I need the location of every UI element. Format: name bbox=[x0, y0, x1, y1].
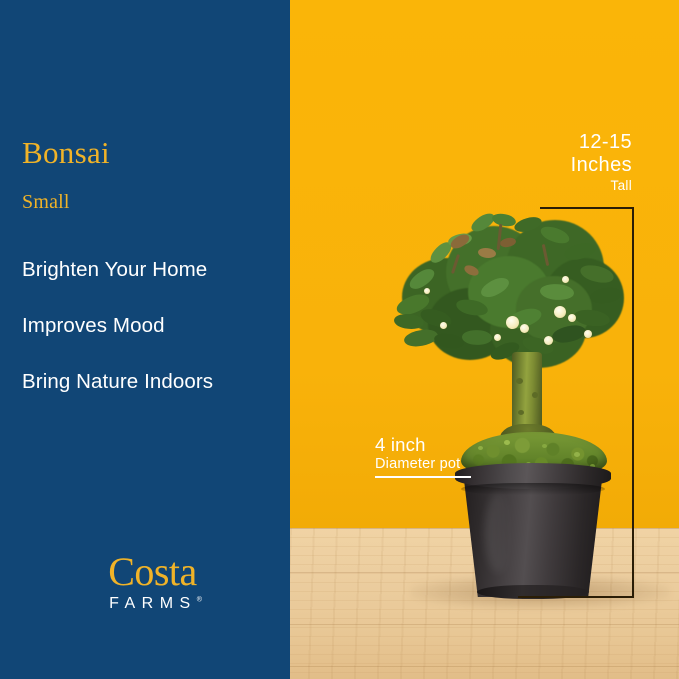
bonsai-flower bbox=[506, 316, 519, 329]
pot-callout-underline bbox=[375, 476, 471, 478]
bonsai-canopy bbox=[394, 214, 626, 376]
registered-trademark-icon: ® bbox=[197, 597, 202, 604]
height-callout-qualifier: Tall bbox=[526, 177, 632, 195]
height-bracket-line bbox=[632, 207, 634, 598]
bonsai-flower bbox=[424, 288, 430, 294]
product-image-canvas: Bonsai Small Brighten Your Home Improves… bbox=[0, 0, 679, 679]
brand-logo-farms-text: FARMS bbox=[109, 595, 197, 612]
benefit-item: Bring Nature Indoors bbox=[22, 370, 272, 394]
benefit-item: Improves Mood bbox=[22, 314, 272, 338]
height-callout-value: 12-15 bbox=[526, 131, 632, 154]
benefit-item: Brighten Your Home bbox=[22, 258, 272, 282]
page-subtitle: Small bbox=[22, 190, 70, 214]
height-bracket-bottom-tick bbox=[518, 596, 634, 598]
pot-callout-description: Diameter pot bbox=[375, 455, 471, 473]
height-callout: 12-15 Inches Tall bbox=[526, 131, 632, 195]
height-callout-unit: Inches bbox=[526, 154, 632, 177]
pot-highlight bbox=[485, 493, 511, 573]
bonsai-plant bbox=[290, 0, 679, 679]
plant-pot bbox=[455, 463, 611, 597]
brand-logo: Costa FARMS® bbox=[70, 552, 235, 613]
page-title: Bonsai bbox=[22, 136, 110, 170]
product-photo-panel: 12-15 Inches Tall 4 inch Diameter pot bbox=[290, 0, 679, 679]
bonsai-flower bbox=[568, 314, 576, 322]
bonsai-flower bbox=[544, 336, 553, 345]
bonsai-flower bbox=[554, 306, 566, 318]
bonsai-flower bbox=[584, 330, 592, 338]
benefits-list: Brighten Your Home Improves Mood Bring N… bbox=[22, 258, 272, 426]
brand-logo-farms: FARMS® bbox=[70, 595, 235, 613]
bonsai-flower bbox=[494, 334, 501, 341]
info-panel: Bonsai Small Brighten Your Home Improves… bbox=[0, 0, 290, 679]
pot-rim-shadow bbox=[461, 483, 605, 495]
pot-callout-value: 4 inch bbox=[375, 434, 471, 455]
bonsai-flower bbox=[562, 276, 569, 283]
bonsai-flower bbox=[440, 322, 447, 329]
pot-callout: 4 inch Diameter pot bbox=[375, 434, 471, 473]
bonsai-flower bbox=[520, 324, 529, 333]
brand-logo-costa: Costa bbox=[70, 552, 235, 592]
height-bracket-top-tick bbox=[540, 207, 634, 209]
